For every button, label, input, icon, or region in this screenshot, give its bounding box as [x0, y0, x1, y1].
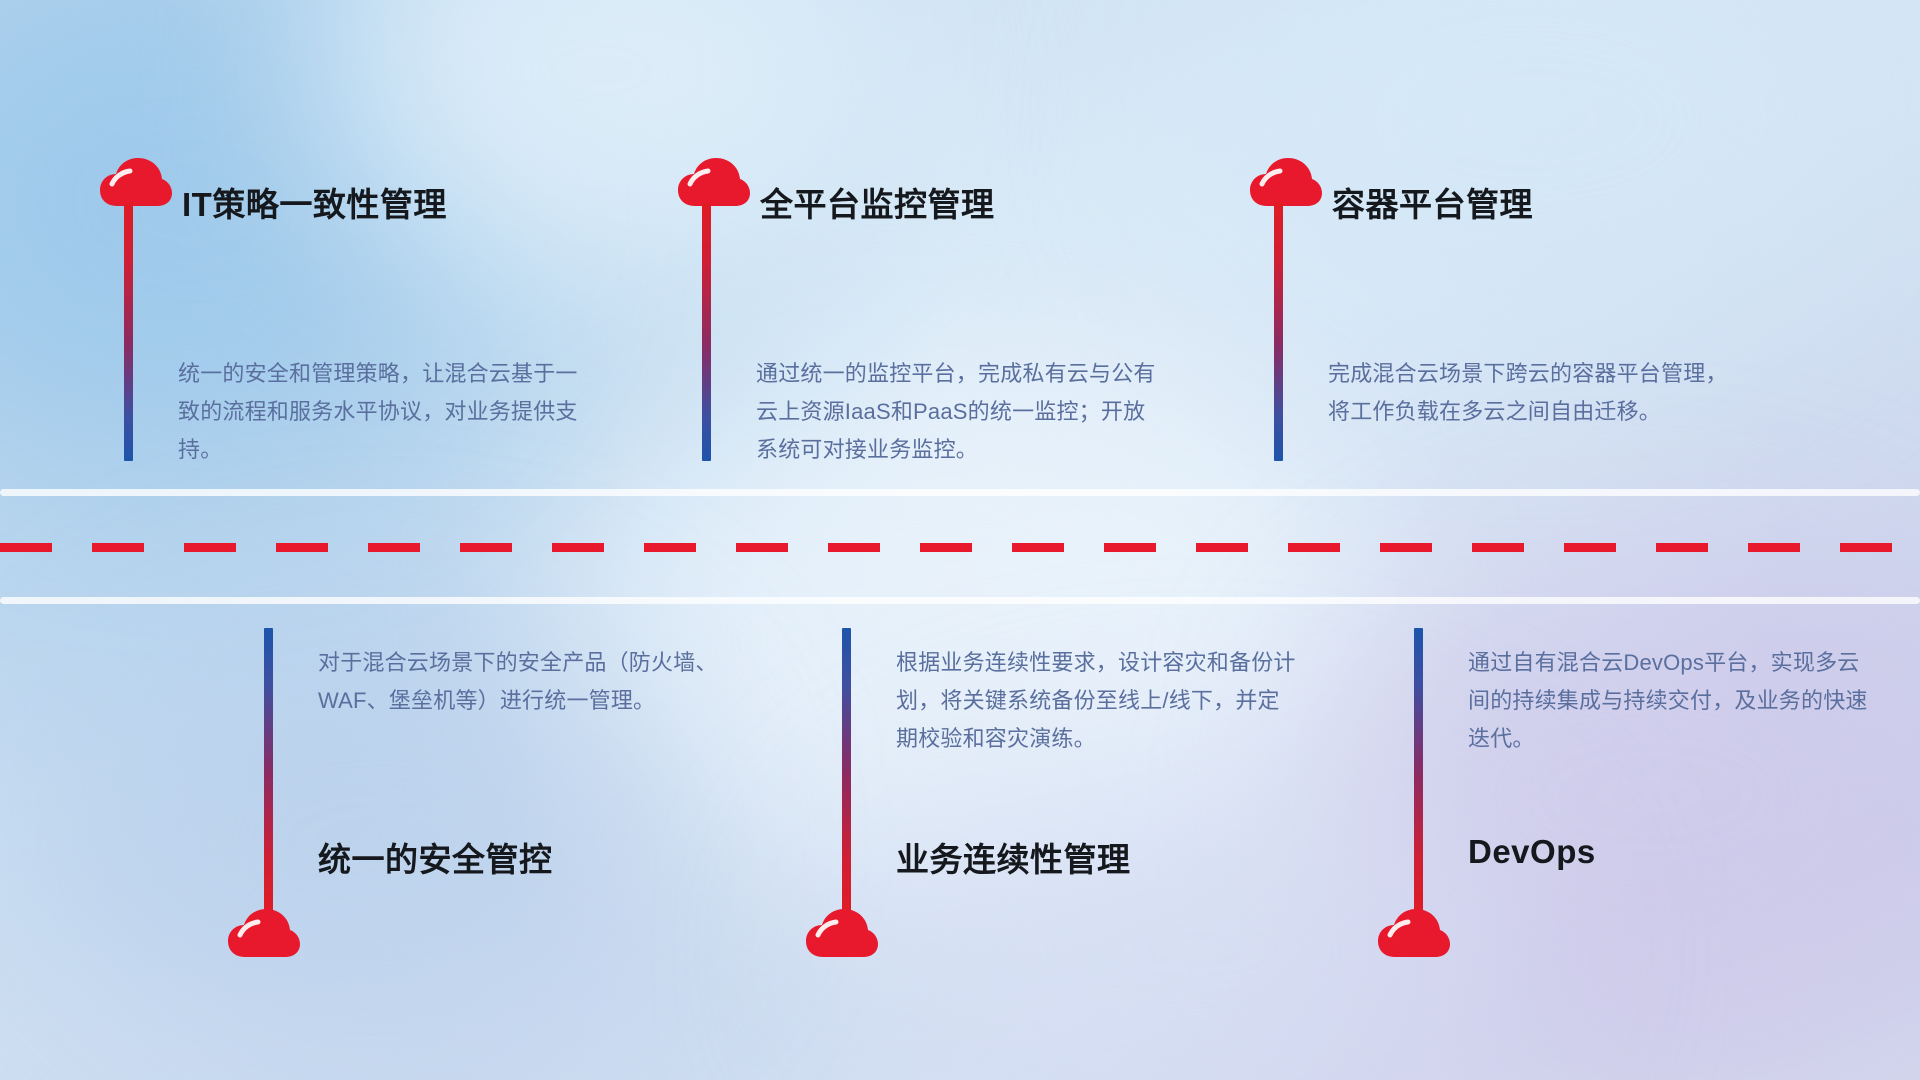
- item-description: 完成混合云场景下跨云的容器平台管理，将工作负载在多云之间自由迁移。: [1328, 355, 1728, 431]
- connector-bar: [842, 628, 851, 916]
- cloud-pin-icon: [228, 909, 300, 961]
- item-title: IT策略一致性管理: [182, 178, 447, 226]
- cloud-pin-icon: [100, 158, 172, 210]
- cloud-pin-icon: [806, 909, 878, 961]
- divider-rail-bottom: [0, 597, 1920, 604]
- infographic-canvas: IT策略一致性管理 统一的安全和管理策略，让混合云基于一致的流程和服务水平协议，…: [0, 0, 1920, 1080]
- divider-rail-top: [0, 489, 1920, 496]
- item-title: 容器平台管理: [1332, 178, 1533, 226]
- item-title: 统一的安全管控: [318, 833, 553, 881]
- connector-bar: [1274, 203, 1283, 461]
- item-title: 业务连续性管理: [896, 833, 1131, 881]
- item-title: 全平台监控管理: [760, 178, 995, 226]
- connector-bar: [1414, 628, 1423, 916]
- cloud-pin-icon: [1250, 158, 1322, 210]
- item-description: 统一的安全和管理策略，让混合云基于一致的流程和服务水平协议，对业务提供支持。: [178, 355, 578, 469]
- dash-pattern: [0, 543, 1920, 552]
- connector-bar: [264, 628, 273, 916]
- item-description: 对于混合云场景下的安全产品（防火墙、WAF、堡垒机等）进行统一管理。: [318, 644, 718, 720]
- item-title: DevOps: [1468, 833, 1596, 871]
- item-description: 通过自有混合云DevOps平台，实现多云间的持续集成与持续交付，及业务的快速迭代…: [1468, 644, 1868, 758]
- connector-bar: [124, 203, 133, 461]
- background-glow: [320, 0, 880, 280]
- item-description: 根据业务连续性要求，设计容灾和备份计划，将关键系统备份至线上/线下，并定期校验和…: [896, 644, 1296, 758]
- item-description: 通过统一的监控平台，完成私有云与公有云上资源IaaS和PaaS的统一监控；开放系…: [756, 355, 1156, 469]
- cloud-pin-icon: [678, 158, 750, 210]
- cloud-pin-icon: [1378, 909, 1450, 961]
- connector-bar: [702, 203, 711, 461]
- divider-dashed-line: [0, 543, 1920, 552]
